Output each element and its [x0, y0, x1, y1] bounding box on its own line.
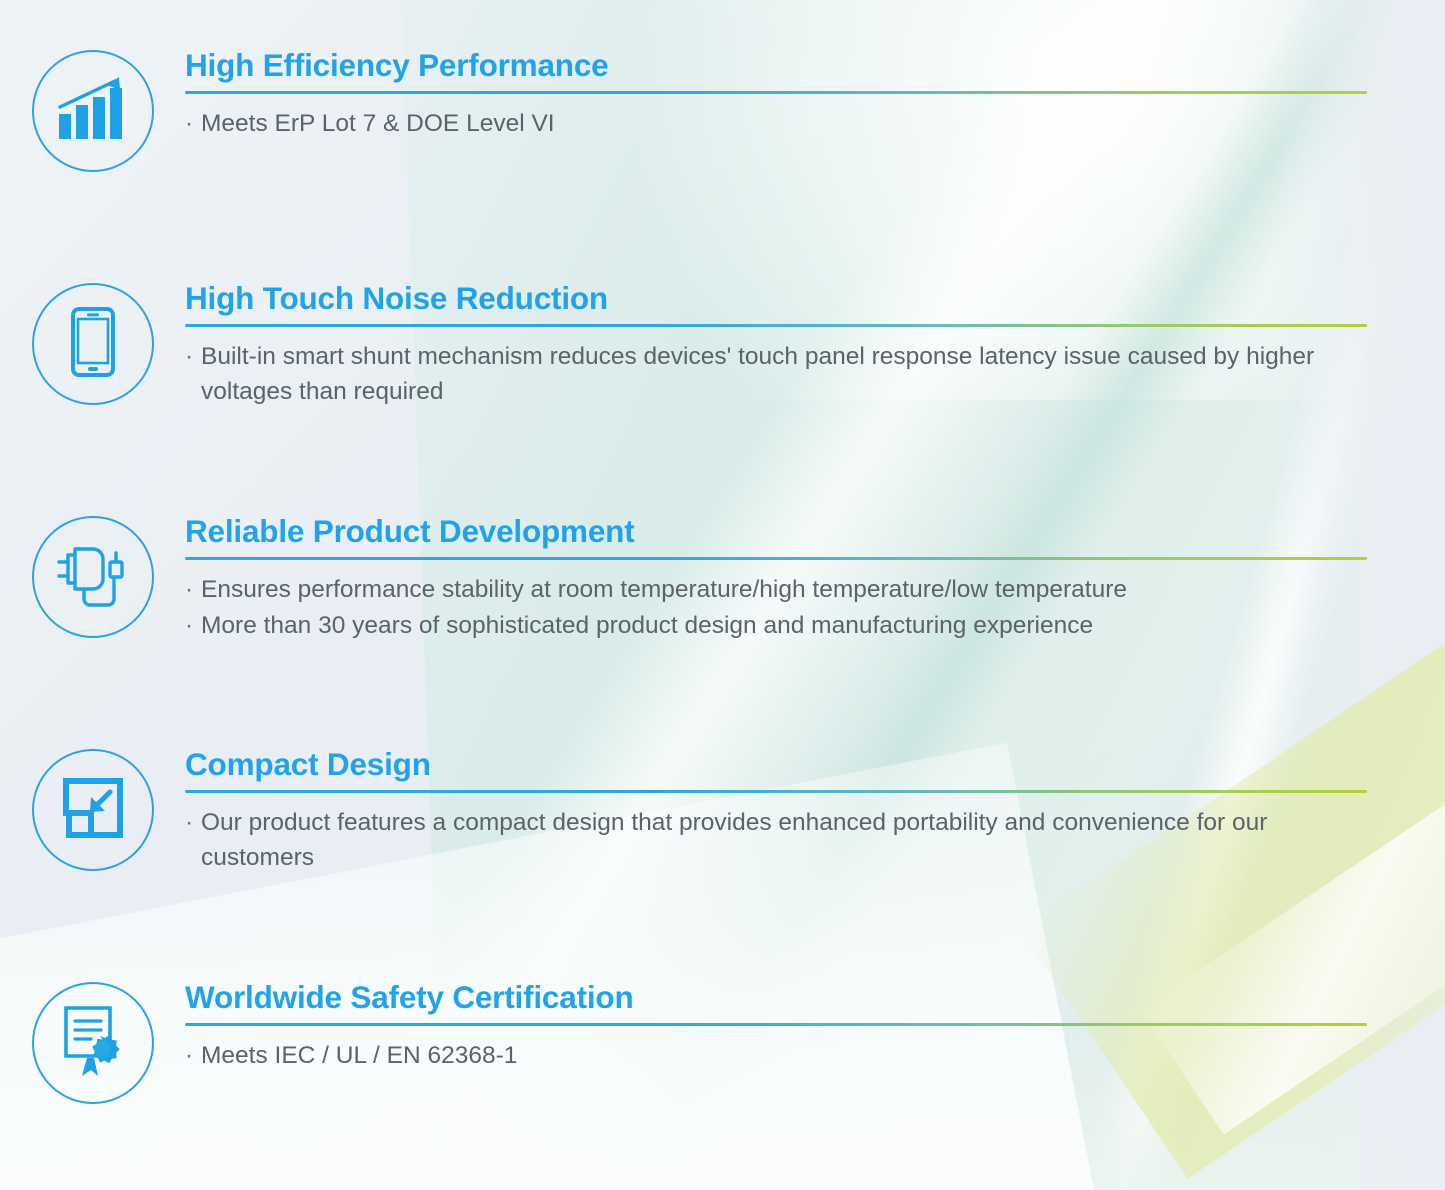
smartphone-icon [71, 307, 115, 382]
bullet-text: Meets IEC / UL / EN 62368-1 [201, 1039, 1367, 1074]
icon-column [0, 747, 185, 871]
power-adapter-icon [53, 539, 133, 616]
list-item: · More than 30 years of sophisticated pr… [185, 609, 1367, 644]
icon-column [0, 980, 185, 1104]
feature-row-high-touch-noise-reduction: High Touch Noise Reduction · Built-in sm… [0, 281, 1445, 411]
feature-bullets: · Meets IEC / UL / EN 62368-1 [185, 1039, 1367, 1074]
certificate-award-icon [58, 1004, 128, 1083]
bullet-marker: · [185, 340, 201, 375]
feature-title: Compact Design [185, 747, 1367, 782]
feature-bullets: · Meets ErP Lot 7 & DOE Level VI [185, 107, 1367, 142]
feature-row-reliable-product-development: Reliable Product Development · Ensures p… [0, 514, 1445, 645]
compact-resize-icon [60, 775, 126, 846]
icon-column [0, 514, 185, 638]
list-item: · Meets ErP Lot 7 & DOE Level VI [185, 107, 1367, 142]
icon-column [0, 48, 185, 172]
icon-circle [32, 516, 154, 638]
bullet-marker: · [185, 573, 201, 608]
bar-chart-growth-icon [57, 76, 129, 147]
list-item: · Built-in smart shunt mechanism reduces… [185, 340, 1367, 410]
feature-row-worldwide-safety-certification: Worldwide Safety Certification · Meets I… [0, 980, 1445, 1104]
text-column: Compact Design · Our product features a … [185, 747, 1445, 877]
text-column: High Touch Noise Reduction · Built-in sm… [185, 281, 1445, 411]
title-divider [185, 790, 1367, 793]
title-divider [185, 557, 1367, 560]
list-item: · Our product features a compact design … [185, 806, 1367, 876]
bullet-text: More than 30 years of sophisticated prod… [201, 609, 1367, 644]
icon-circle [32, 749, 154, 871]
text-column: High Efficiency Performance · Meets ErP … [185, 48, 1445, 143]
feature-bullets: · Our product features a compact design … [185, 806, 1367, 876]
feature-title: High Touch Noise Reduction [185, 281, 1367, 316]
feature-row-high-efficiency-performance: High Efficiency Performance · Meets ErP … [0, 48, 1445, 172]
icon-column [0, 281, 185, 405]
feature-title: Reliable Product Development [185, 514, 1367, 549]
feature-title: Worldwide Safety Certification [185, 980, 1367, 1015]
bullet-marker: · [185, 107, 201, 142]
icon-circle [32, 982, 154, 1104]
icon-circle [32, 283, 154, 405]
feature-bullets: · Built-in smart shunt mechanism reduces… [185, 340, 1367, 410]
bullet-marker: · [185, 609, 201, 644]
icon-circle [32, 50, 154, 172]
title-divider [185, 324, 1367, 327]
feature-bullets: · Ensures performance stability at room … [185, 573, 1367, 644]
bullet-marker: · [185, 1039, 201, 1074]
bullet-text: Ensures performance stability at room te… [201, 573, 1367, 608]
list-item: · Meets IEC / UL / EN 62368-1 [185, 1039, 1367, 1074]
bullet-marker: · [185, 806, 201, 841]
feature-row-compact-design: Compact Design · Our product features a … [0, 747, 1445, 877]
feature-highlights-page: High Efficiency Performance · Meets ErP … [0, 0, 1445, 1190]
feature-title: High Efficiency Performance [185, 48, 1367, 83]
title-divider [185, 1023, 1367, 1026]
bullet-text: Our product features a compact design th… [201, 806, 1367, 876]
list-item: · Ensures performance stability at room … [185, 573, 1367, 608]
text-column: Reliable Product Development · Ensures p… [185, 514, 1445, 645]
text-column: Worldwide Safety Certification · Meets I… [185, 980, 1445, 1075]
title-divider [185, 91, 1367, 94]
bullet-text: Built-in smart shunt mechanism reduces d… [201, 340, 1367, 410]
bullet-text: Meets ErP Lot 7 & DOE Level VI [201, 107, 1367, 142]
